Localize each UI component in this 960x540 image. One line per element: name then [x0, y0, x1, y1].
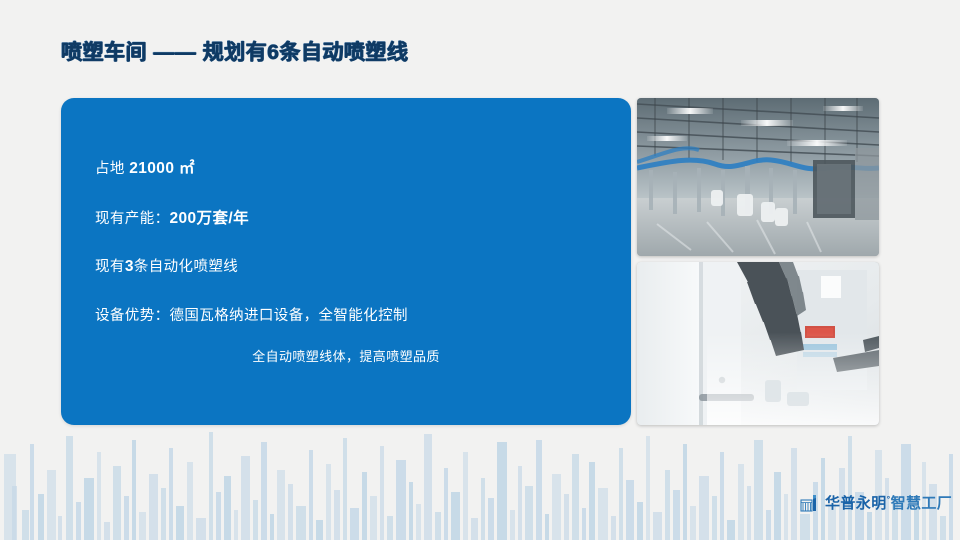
- barcode-bar: [653, 512, 662, 540]
- info-line-existing-lines: 现有3条自动化喷塑线: [95, 255, 238, 276]
- barcode-bar: [261, 442, 267, 540]
- info-line-area-unit: ㎡: [179, 160, 195, 177]
- barcode-bar: [552, 474, 561, 540]
- barcode-bar: [416, 504, 421, 540]
- barcode-bar: [525, 486, 533, 540]
- photo-factory-conveyor-graphic: [637, 98, 879, 256]
- barcode-bar: [66, 436, 73, 540]
- barcode-bar: [124, 496, 129, 540]
- barcode-bar: [451, 492, 460, 540]
- info-line-existing-prefix: 现有: [95, 259, 125, 275]
- photo-factory-conveyor: [637, 98, 879, 256]
- barcode-bar: [791, 448, 797, 540]
- barcode-bar: [209, 432, 213, 540]
- barcode-bar: [84, 478, 94, 540]
- barcode-bar: [58, 516, 62, 540]
- barcode-bar: [47, 470, 56, 540]
- barcode-bar: [370, 496, 377, 540]
- barcode-bar: [497, 442, 507, 540]
- barcode-bar: [867, 512, 872, 540]
- slide-root: 喷塑车间 —— 规划有6条自动喷塑线 占地 21000 ㎡ 现有产能：200万套…: [0, 0, 960, 540]
- info-line-capacity-prefix: 现有产能：: [95, 211, 170, 227]
- barcode-bar: [169, 448, 173, 540]
- barcode-bar: [241, 456, 250, 540]
- barcode-bar: [139, 512, 146, 540]
- barcode-bar: [132, 440, 136, 540]
- info-line-capacity-value: 200万套/年: [170, 210, 249, 227]
- barcode-bar: [598, 488, 608, 540]
- barcode-bar: [396, 460, 406, 540]
- page-title: 喷塑车间 —— 规划有6条自动喷塑线: [61, 36, 408, 66]
- info-line-equipment: 设备优势：德国瓦格纳进口设备，全智能化控制: [95, 304, 408, 325]
- barcode-bar: [409, 482, 413, 540]
- barcode-bar: [463, 452, 468, 540]
- barcode-bar: [22, 510, 29, 540]
- info-line-quality-text: 全自动喷塑线体，提高喷塑品质: [252, 346, 440, 365]
- info-line-area: 占地 21000 ㎡: [95, 156, 195, 178]
- barcode-bar: [176, 506, 184, 540]
- barcode-decoration: [0, 424, 960, 540]
- barcode-bar: [646, 436, 650, 540]
- barcode-bar: [545, 514, 549, 540]
- barcode-bar: [564, 494, 569, 540]
- barcode-bar: [536, 440, 542, 540]
- barcode-bar: [387, 516, 393, 540]
- barcode-bar: [488, 498, 494, 540]
- barcode-bar: [326, 464, 331, 540]
- barcode-bar: [784, 494, 788, 540]
- barcode-bar: [754, 440, 763, 540]
- barcode-bar: [316, 520, 323, 540]
- barcode-bar: [774, 472, 781, 540]
- barcode-bar: [471, 518, 478, 540]
- barcode-bar: [766, 510, 771, 540]
- barcode-bar: [334, 490, 340, 540]
- barcode-bar: [343, 438, 347, 540]
- barcode-bar: [97, 452, 101, 540]
- factory-building-icon: [800, 493, 820, 513]
- info-line-area-prefix: 占地: [95, 161, 129, 177]
- info-panel: 占地 21000 ㎡ 现有产能：200万套/年 现有3条自动化喷塑线 设备优势：…: [61, 98, 631, 425]
- barcode-bar: [747, 486, 751, 540]
- barcode-bar: [161, 488, 166, 540]
- barcode-bar: [444, 468, 448, 540]
- barcode-bar: [720, 452, 724, 540]
- barcode-bar: [104, 522, 110, 540]
- barcode-bar: [619, 448, 623, 540]
- barcode-bar: [940, 516, 946, 540]
- barcode-bar: [712, 496, 717, 540]
- barcode-bar: [626, 480, 634, 540]
- barcode-bar: [309, 450, 313, 540]
- barcode-bar: [727, 520, 735, 540]
- barcode-bar: [38, 494, 44, 540]
- barcode-bar: [510, 510, 515, 540]
- barcode-bar: [582, 508, 586, 540]
- barcode-bar: [350, 508, 359, 540]
- barcode-bar: [362, 472, 367, 540]
- barcode-bar: [738, 464, 744, 540]
- barcode-bar: [234, 510, 238, 540]
- barcode-bar: [690, 506, 696, 540]
- barcode-bar: [113, 466, 121, 540]
- barcode-bar: [149, 474, 158, 540]
- barcode-bar: [270, 514, 274, 540]
- photo-spray-booth-graphic: [637, 262, 879, 425]
- barcode-bar: [611, 516, 616, 540]
- barcode-bar: [380, 446, 384, 540]
- info-line-existing-count: 3: [125, 258, 134, 275]
- barcode-bar: [196, 518, 206, 540]
- barcode-bar: [224, 476, 231, 540]
- info-line-capacity: 现有产能：200万套/年: [95, 206, 249, 228]
- barcode-bar: [76, 502, 81, 540]
- barcode-bar: [589, 462, 595, 540]
- barcode-bar: [481, 478, 485, 540]
- barcode-bar: [800, 514, 810, 540]
- brand-logo-text: 华普永明°智慧工厂: [825, 492, 952, 513]
- barcode-bar: [12, 486, 17, 540]
- barcode-bar: [435, 512, 441, 540]
- barcode-bar: [277, 470, 285, 540]
- info-line-area-value: 21000: [129, 160, 179, 177]
- info-line-quality: 全自动喷塑线体，提高喷塑品质: [61, 346, 631, 365]
- brand-logo: 华普永明°智慧工厂: [800, 492, 952, 513]
- info-line-existing-suffix: 条自动化喷塑线: [134, 259, 238, 275]
- barcode-bar: [296, 506, 306, 540]
- barcode-bar: [665, 470, 670, 540]
- barcode-bar: [637, 502, 643, 540]
- barcode-bar: [424, 434, 432, 540]
- barcode-bar: [30, 444, 34, 540]
- barcode-bar: [216, 492, 221, 540]
- barcode-bar: [699, 476, 709, 540]
- barcode-bar: [288, 484, 293, 540]
- barcode-bar: [518, 466, 522, 540]
- barcode-bar: [683, 444, 687, 540]
- barcode-bar: [187, 462, 193, 540]
- barcode-bar: [572, 454, 579, 540]
- barcode-bar: [848, 436, 852, 540]
- photo-spray-booth: [637, 262, 879, 425]
- brand-name: 华普永明: [825, 495, 887, 512]
- brand-sub-name: 智慧工厂: [891, 495, 953, 512]
- barcode-bar: [673, 490, 680, 540]
- barcode-bar: [253, 500, 258, 540]
